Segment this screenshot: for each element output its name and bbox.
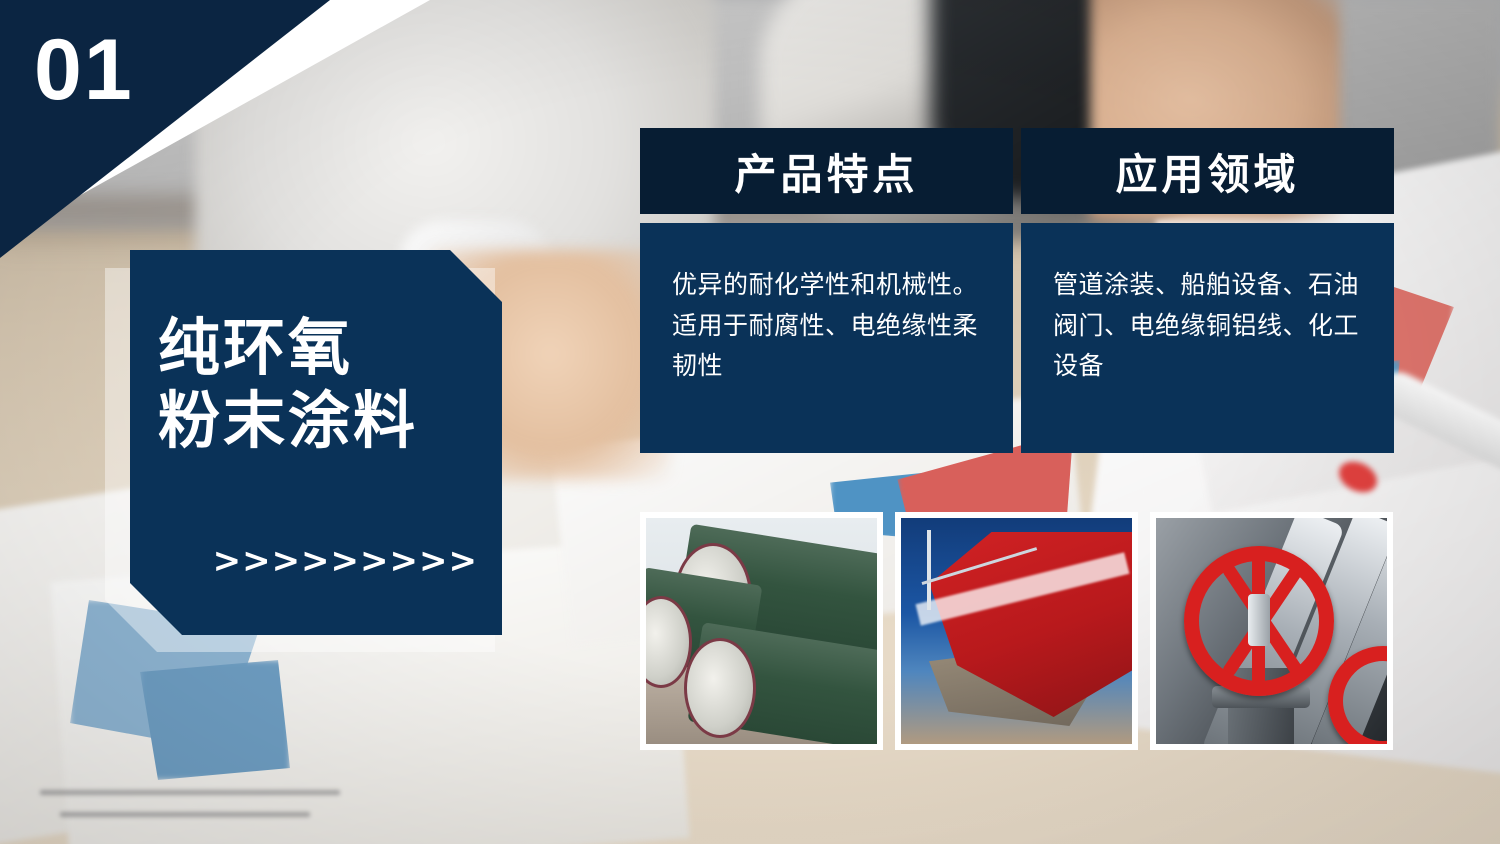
body-row: 优异的耐化学性和机械性。适用于耐腐性、电绝缘性柔韧性 管道涂装、船舶设备、石油阀… [640,223,1394,453]
body-card-application-fields: 管道涂装、船舶设备、石油阀门、电绝缘铜铝线、化工设备 [1021,223,1394,453]
slide-canvas: 01 纯环氧 粉末涂料 >>>>>>>>> 产品特点 应用领域 优异的耐化学性和… [0,0,1500,844]
body-card-product-features: 优异的耐化学性和机械性。适用于耐腐性、电绝缘性柔韧性 [640,223,1013,453]
heading-card-application-fields[interactable]: 应用领域 [1021,128,1394,214]
red-ship-hull-photo[interactable] [895,512,1138,750]
title-card: 纯环氧 粉末涂料 >>>>>>>>> [130,250,502,635]
heading-card-product-features[interactable]: 产品特点 [640,128,1013,214]
chevrons-icon: >>>>>>>>> [213,541,478,581]
heading-row: 产品特点 应用领域 [640,128,1394,214]
section-number: 01 [34,27,134,113]
heading-label-application-fields: 应用领域 [1115,141,1299,202]
photo-strip [640,512,1394,750]
heading-label-product-features: 产品特点 [734,141,918,202]
title-line-2: 粉末涂料 [158,385,476,458]
title-line-1: 纯环氧 [158,312,476,385]
coated-steel-pipes-photo[interactable] [640,512,883,750]
body-text-product-features: 优异的耐化学性和机械性。适用于耐腐性、电绝缘性柔韧性 [672,265,985,387]
content-area: 产品特点 应用领域 优异的耐化学性和机械性。适用于耐腐性、电绝缘性柔韧性 管道涂… [640,128,1394,453]
red-valve-handwheels-photo[interactable] [1150,512,1393,750]
body-text-application-fields: 管道涂装、船舶设备、石油阀门、电绝缘铜铝线、化工设备 [1053,265,1366,387]
